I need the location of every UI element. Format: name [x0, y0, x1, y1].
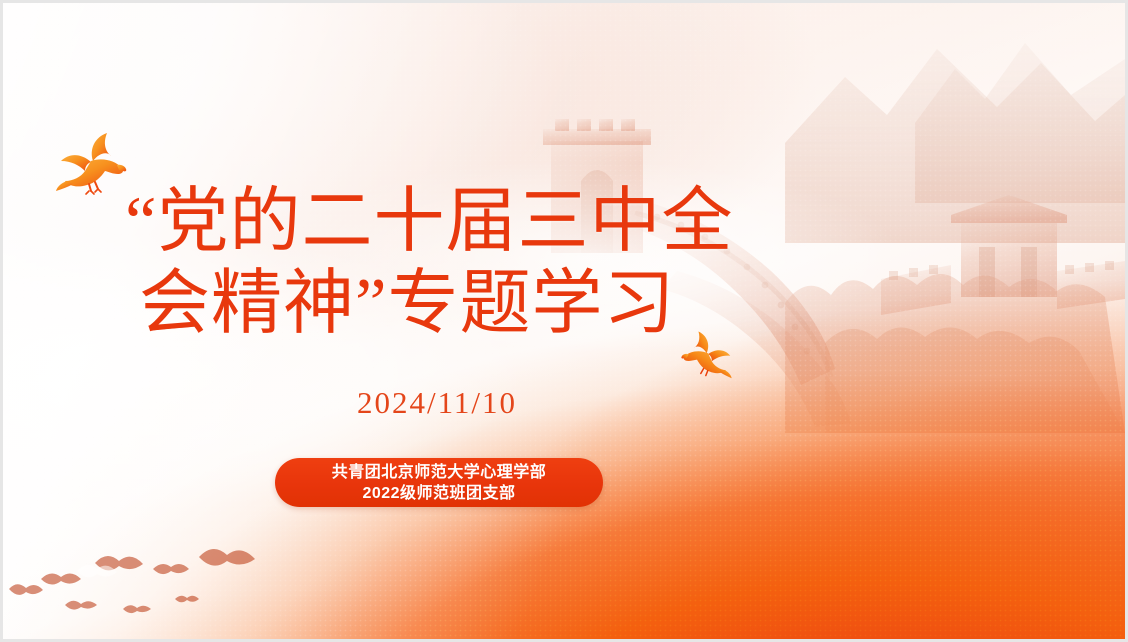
slide-title-line-1: “党的二十届三中全	[125, 181, 825, 263]
organization-branch: 2022级师范班团支部	[362, 483, 515, 504]
slide-title-line-2: 会精神”专题学习	[139, 263, 825, 345]
dove-large-icon	[55, 131, 129, 201]
slide-date: 2024/11/10	[3, 384, 871, 422]
organization-badge: 共青团北京师范大学心理学部 2022级师范班团支部	[275, 458, 603, 507]
slide-title: “党的二十届三中全 会精神”专题学习	[125, 181, 825, 345]
organization-name: 共青团北京师范大学心理学部	[332, 462, 547, 483]
presentation-slide: “党的二十届三中全 会精神”专题学习 2024/11/10 共青团北京师范大学心…	[0, 0, 1128, 642]
